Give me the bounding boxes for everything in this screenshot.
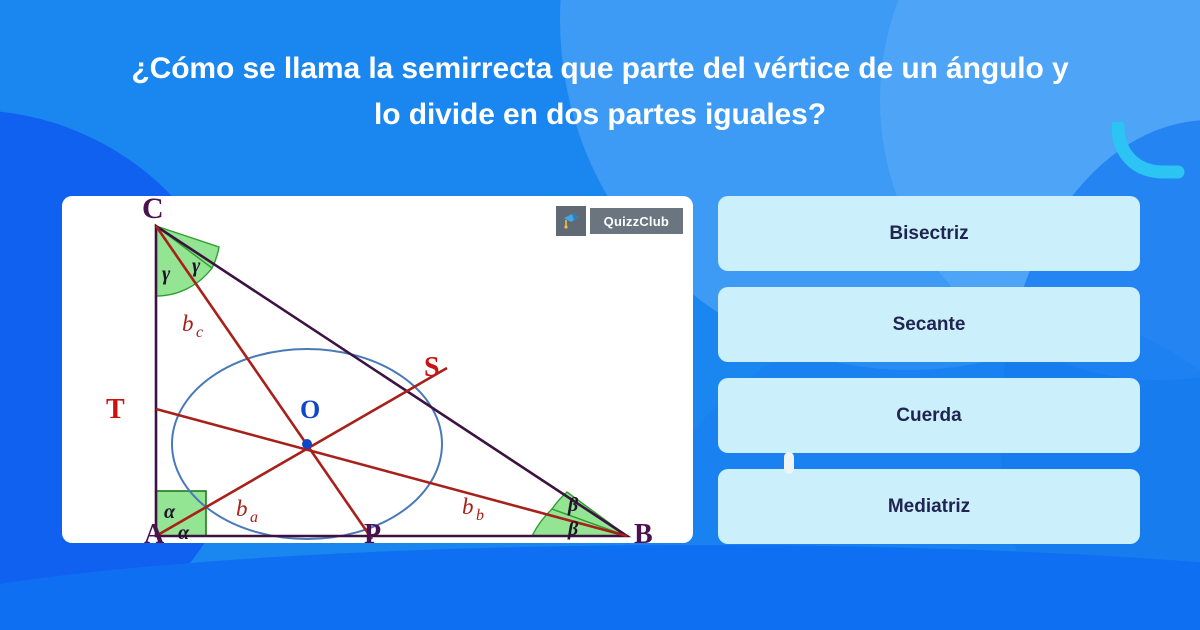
svg-text:S: S <box>424 352 440 383</box>
graduation-cap-icon <box>556 206 586 236</box>
svg-text:c: c <box>196 324 203 341</box>
svg-text:γ: γ <box>162 263 171 285</box>
svg-text:b: b <box>462 494 474 519</box>
background-blob-bottom <box>0 545 1200 630</box>
svg-text:b: b <box>476 507 484 524</box>
svg-text:γ: γ <box>192 255 201 277</box>
svg-text:β: β <box>567 518 579 540</box>
svg-text:β: β <box>567 494 579 516</box>
svg-text:b: b <box>236 496 248 521</box>
quiz-card: ¿Cómo se llama la semirrecta que parte d… <box>0 0 1200 630</box>
svg-text:a: a <box>250 509 258 526</box>
question-image-card: C A B P T S O γ γ α α β β b c b a b <box>62 196 693 543</box>
geometry-diagram: C A B P T S O γ γ α α β β b c b a b <box>62 196 693 543</box>
answer-option-4[interactable]: Mediatriz <box>718 469 1140 544</box>
svg-text:b: b <box>182 311 194 336</box>
question-line-2: lo divide en dos partes iguales? <box>50 92 1150 138</box>
answer-option-2[interactable]: Secante <box>718 287 1140 362</box>
svg-text:B: B <box>634 519 653 543</box>
answer-option-1[interactable]: Bisectriz <box>718 196 1140 271</box>
svg-text:A: A <box>144 519 165 543</box>
answer-option-3[interactable]: Cuerda <box>718 378 1140 453</box>
svg-text:O: O <box>300 395 320 424</box>
watermark: QuizzClub <box>556 206 683 236</box>
svg-text:α: α <box>178 522 190 543</box>
watermark-brand: QuizzClub <box>590 208 683 234</box>
question-line-1: ¿Cómo se llama la semirrecta que parte d… <box>50 46 1150 92</box>
svg-text:T: T <box>106 394 125 425</box>
scroll-thumb[interactable] <box>784 452 794 474</box>
svg-text:P: P <box>364 519 381 543</box>
svg-text:C: C <box>142 196 164 225</box>
svg-text:α: α <box>164 501 176 523</box>
question-title: ¿Cómo se llama la semirrecta que parte d… <box>50 46 1150 138</box>
answer-options: Bisectriz Secante Cuerda Mediatriz <box>718 196 1140 544</box>
